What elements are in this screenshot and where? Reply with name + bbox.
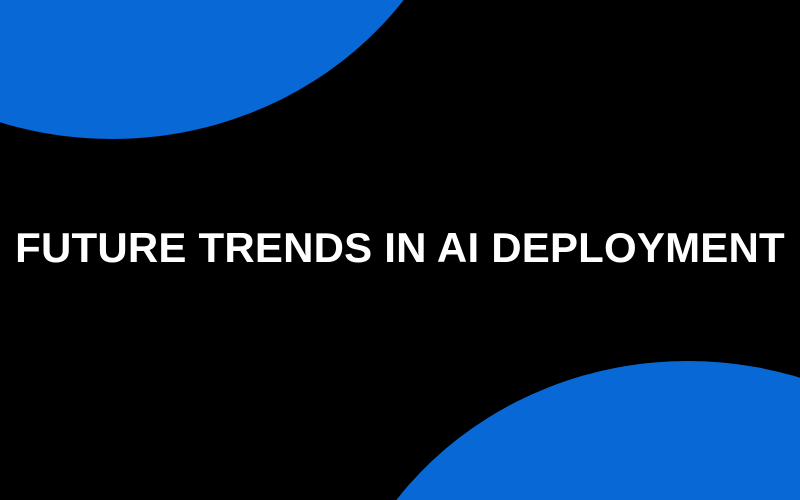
slide-canvas: FUTURE TRENDS IN AI DEPLOYMENT bbox=[0, 0, 800, 500]
background-decoration bbox=[0, 0, 800, 500]
